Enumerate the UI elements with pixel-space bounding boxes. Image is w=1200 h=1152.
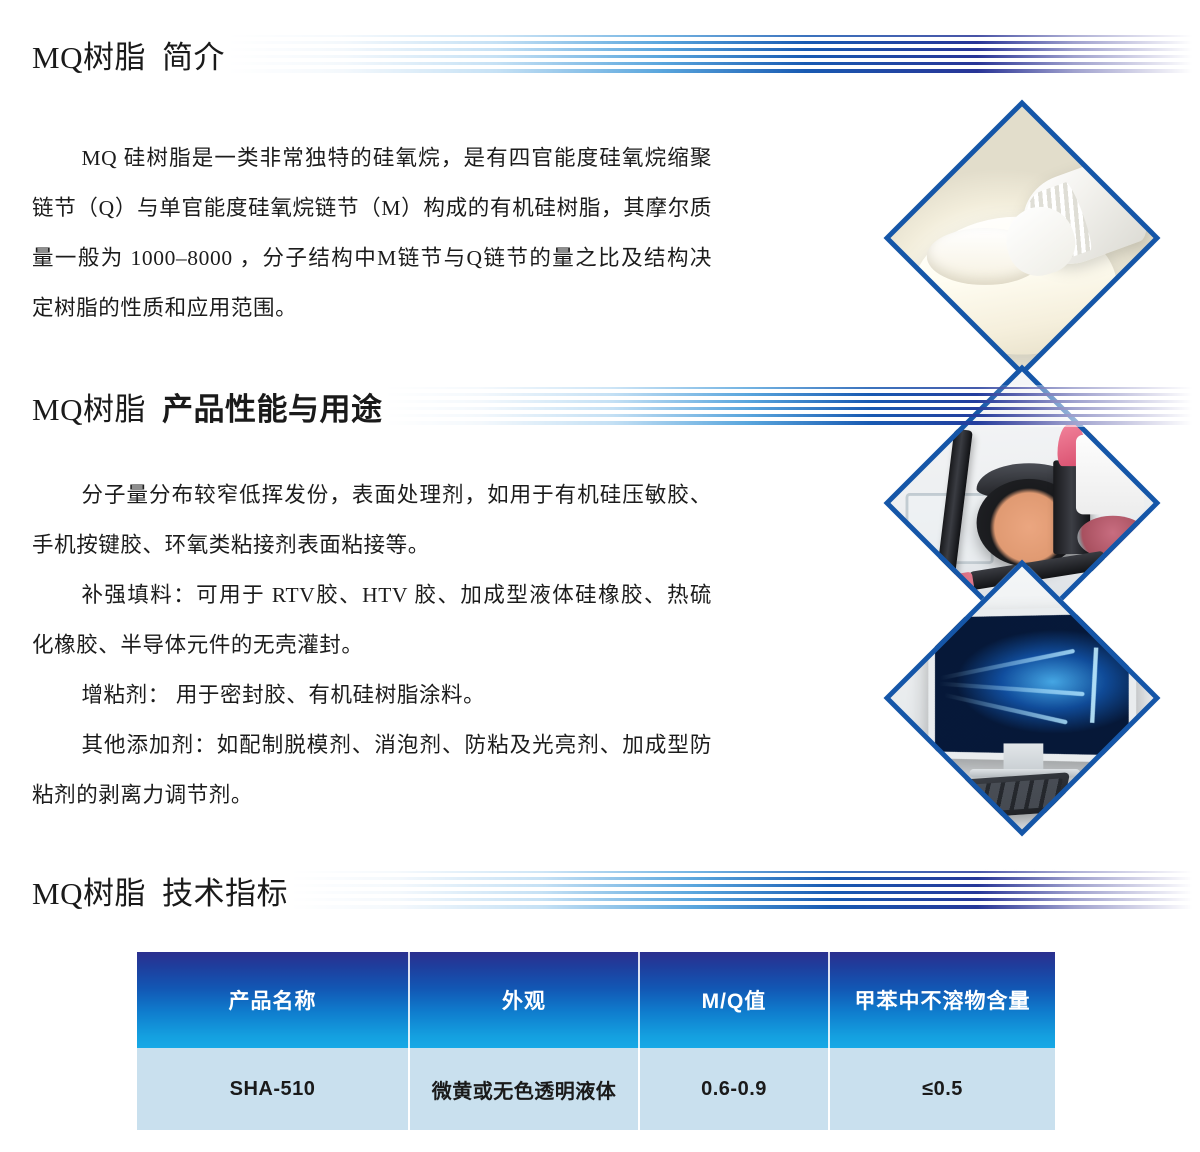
paragraph: 分子量分布较窄低挥发份，表面处理剂，如用于有机硅压敏胶、手机按键胶、环氧类粘接剂… — [32, 470, 712, 570]
heading-prefix: MQ树脂 — [32, 876, 146, 911]
cell-appearance: 微黄或无色透明液体 — [409, 1048, 639, 1130]
heading-name: 技术指标 — [162, 876, 288, 911]
table-header-row: 产品名称 外观 M/Q值 甲苯中不溶物含量 — [137, 952, 1055, 1048]
silicone-cream-photo — [883, 99, 1160, 376]
column-header-toluene-insoluble: 甲苯中不溶物含量 — [829, 952, 1055, 1048]
heading-name: 简介 — [162, 40, 225, 75]
column-header-mq-value: M/Q值 — [639, 952, 829, 1048]
introduction-body: MQ 硅树脂是一类非常独特的硅氧烷，是有四官能度硅氧烷缩聚链节（Q）与单官能度硅… — [32, 133, 712, 333]
column-header-product-name: 产品名称 — [137, 952, 409, 1048]
heading-name: 产品性能与用途 — [162, 392, 383, 427]
cell-toluene-insoluble: ≤0.5 — [829, 1048, 1055, 1130]
computer-photo — [883, 559, 1160, 836]
section-title-specifications: MQ树脂技术指标 — [32, 868, 294, 913]
cell-mq-value: 0.6-0.9 — [639, 1048, 829, 1130]
performance-body: 分子量分布较窄低挥发份，表面处理剂，如用于有机硅压敏胶、手机按键胶、环氧类粘接剂… — [32, 470, 712, 820]
column-header-appearance: 外观 — [409, 952, 639, 1048]
heading-stripe-decoration — [290, 869, 1192, 911]
heading-prefix: MQ树脂 — [32, 392, 146, 427]
paragraph: 增粘剂： 用于密封胶、有机硅树脂涂料。 — [32, 670, 712, 720]
heading-stripe-decoration — [384, 385, 1192, 427]
section-title-performance: MQ树脂产品性能与用途 — [32, 384, 388, 429]
paragraph: 其他添加剂：如配制脱模剂、消泡剂、防粘及光亮剂、加成型防粘剂的剥离力调节剂。 — [32, 720, 712, 820]
heading-stripe-decoration — [227, 33, 1192, 75]
section-title-introduction: MQ树脂简介 — [32, 32, 231, 77]
spec-table: 产品名称 外观 M/Q值 甲苯中不溶物含量 SHA-510 微黄或无色透明液体 … — [137, 952, 1055, 1130]
cell-product-name: SHA-510 — [137, 1048, 409, 1130]
table-row: SHA-510 微黄或无色透明液体 0.6-0.9 ≤0.5 — [137, 1048, 1055, 1130]
paragraph: 补强填料：可用于 RTV胶、HTV 胶、加成型液体硅橡胶、热硫化橡胶、半导体元件… — [32, 570, 712, 670]
paragraph: MQ 硅树脂是一类非常独特的硅氧烷，是有四官能度硅氧烷缩聚链节（Q）与单官能度硅… — [32, 133, 712, 333]
section-heading-performance: MQ树脂产品性能与用途 — [32, 378, 1192, 434]
heading-prefix: MQ树脂 — [32, 40, 146, 75]
section-heading-specifications: MQ树脂技术指标 — [32, 862, 1192, 918]
section-heading-introduction: MQ树脂简介 — [32, 26, 1192, 82]
